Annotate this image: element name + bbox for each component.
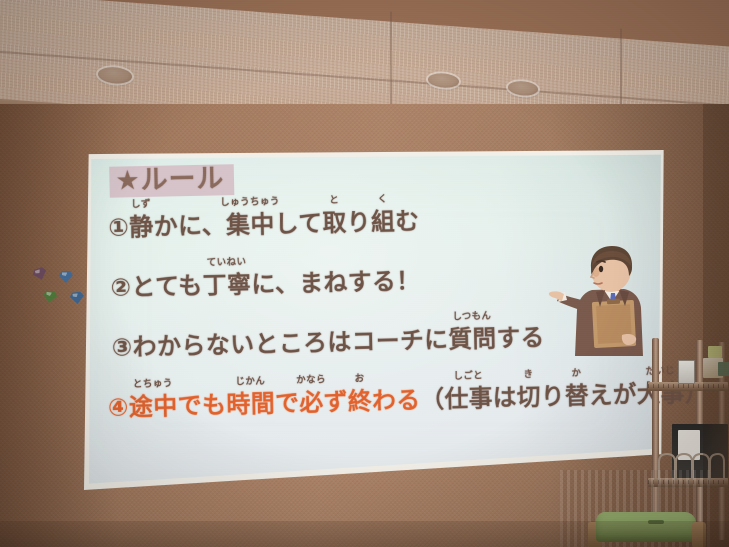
ruby-segment: き切 [517, 385, 542, 409]
ruby-segment: ④ [108, 395, 129, 420]
rule-line-1: ①しず静かに、しゅうちゅう集中してと取りく組む [108, 209, 419, 240]
ruby-segment: く組 [371, 210, 396, 234]
ruby-segment: じかん時間 [226, 392, 275, 417]
ruby-segment: り [347, 210, 372, 234]
ruby-segment: と取 [322, 211, 347, 235]
rule-line-2: ②とてもていねい丁寧に、まねする！ [110, 269, 420, 300]
ruby-segment: （ [420, 387, 445, 411]
slide-title: ★ルール [109, 164, 234, 198]
ruby-segment: わる [372, 388, 421, 413]
shelf-item-tablet [678, 360, 695, 384]
ruby-segment: ②とても [110, 274, 203, 300]
ruby-segment: でも [177, 393, 226, 418]
ruby-segment: する [496, 325, 545, 350]
ruby-segment: しつもん質問 [448, 326, 497, 351]
ruby-segment: しゅうちゅう集中 [226, 212, 275, 237]
ruby-segment: しごと仕事 [444, 386, 493, 411]
ruby-segment: えが [589, 382, 637, 407]
floor-shadow [0, 521, 729, 547]
slide-title-highlight: ★ルール [109, 164, 234, 198]
ruby-segment: かなら必 [299, 390, 324, 414]
ruby-segment: り [541, 384, 565, 408]
ruby-segment: しず静 [129, 215, 154, 239]
ruby-segment: かに、 [153, 213, 226, 239]
ruby-segment: して [275, 211, 323, 236]
ruby-segment: お終 [348, 389, 373, 413]
ruby-segment: ていねい丁寧 [202, 272, 251, 297]
wall-corner [703, 104, 729, 547]
businessman-svg [548, 244, 660, 362]
ruby-segment: は [493, 385, 518, 409]
ruby-segment: とちゅう途中 [129, 394, 178, 419]
ruby-segment: か替 [565, 384, 589, 408]
ruby-segment: ず [323, 390, 348, 414]
ruby-segment: ③わからないところはコーチに [112, 328, 449, 360]
ruby-segment: で [275, 391, 300, 416]
ruby-segment: に、まねする！ [251, 269, 420, 297]
rule-line-3: ③わからないところはコーチにしつもん質問する [112, 325, 545, 359]
ruby-segment: む [395, 209, 420, 233]
screenshot-scene: ★ルール ①しず静かに、しゅうちゅう集中してと取りく組む ②とてもていねい丁寧に… [0, 0, 729, 547]
ruby-segment: ① [108, 215, 129, 239]
rule-line-4: ④とちゅう途中でもじかん時間でかなら必ずお終わる（しごと仕事はき切りか替えがだい… [108, 381, 709, 420]
slide-title-text: ★ルール [115, 163, 224, 196]
businessman-pointing-illustration [548, 244, 660, 362]
